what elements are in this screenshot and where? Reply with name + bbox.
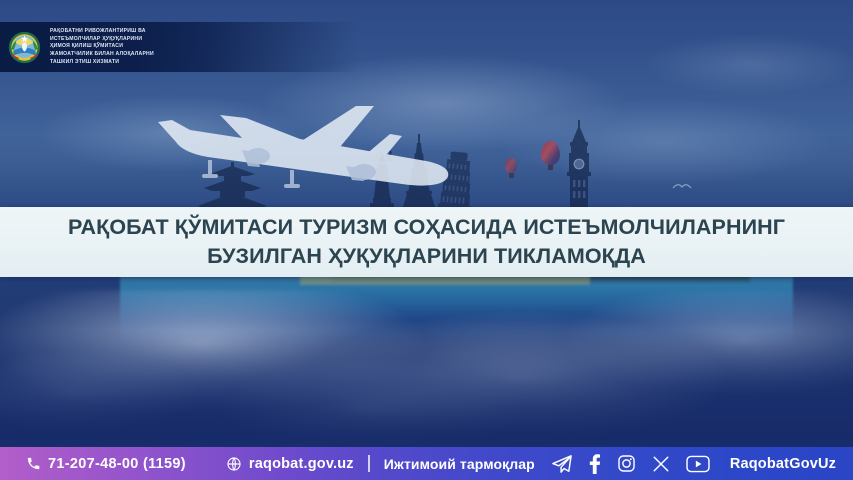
headline-line-2: БУЗИЛГАН ҲУҚУҚЛАРИНИ ТИКЛАМОҚДА: [207, 242, 646, 271]
social-handle: RaqobatGovUz: [730, 456, 836, 472]
x-twitter-icon[interactable]: [652, 455, 670, 473]
headline-banner: РАҚОБАТ ҚЎМИТАСИ ТУРИЗМ СОҲАСИДА ИСТЕЪМО…: [0, 207, 853, 277]
org-line-5: ТАШКИЛ ЭТИШ ХИЗМАТИ: [50, 59, 154, 66]
website-url: raqobat.gov.uz: [249, 456, 354, 472]
org-line-3: ҲИМОЯ ҚИЛИШ ҚЎМИТАСИ: [50, 43, 154, 50]
org-line-1: РАҚОБАТНИ РИВОЖЛАНТИРИШ ВА: [50, 28, 154, 35]
beach-lagoon: [120, 276, 793, 346]
globe-icon: [226, 456, 242, 472]
org-line-2: ИСТЕЪМОЛЧИЛАР ҲУҚУҚЛАРИНИ: [50, 36, 154, 43]
youtube-icon[interactable]: [686, 455, 710, 473]
footer-divider: [368, 455, 370, 472]
org-line-4: ЖАМОАТЧИЛИК БИЛАН АЛОҚАЛАРНИ: [50, 51, 154, 58]
organization-name-block: РАҚОБАТНИ РИВОЖЛАНТИРИШ ВА ИСТЕЪМОЛЧИЛАР…: [50, 28, 154, 65]
instagram-icon[interactable]: [617, 454, 636, 473]
telegram-icon[interactable]: [551, 454, 573, 474]
headline-line-1: РАҚОБАТ ҚЎМИТАСИ ТУРИЗМ СОҲАСИДА ИСТЕЪМО…: [68, 213, 785, 242]
phone-contact[interactable]: 71-207-48-00 (1159): [26, 456, 186, 472]
poster-canvas: РАҚОБАТНИ РИВОЖЛАНТИРИШ ВА ИСТЕЪМОЛЧИЛАР…: [0, 0, 853, 480]
contact-footer-bar: 71-207-48-00 (1159) raqobat.gov.uz Ижтим…: [0, 447, 853, 480]
shoreline-sand: [300, 276, 590, 285]
website-link[interactable]: raqobat.gov.uz: [226, 456, 354, 472]
phone-icon: [26, 456, 41, 471]
uzbekistan-state-emblem-icon: [8, 31, 41, 64]
facebook-icon[interactable]: [589, 454, 601, 474]
social-links: [551, 454, 710, 474]
organization-header-bar: РАҚОБАТНИ РИВОЖЛАНТИРИШ ВА ИСТЕЪМОЛЧИЛАР…: [0, 22, 360, 72]
socials-label: Ижтимоий тармоқлар: [384, 456, 535, 472]
phone-number: 71-207-48-00 (1159): [48, 456, 186, 472]
